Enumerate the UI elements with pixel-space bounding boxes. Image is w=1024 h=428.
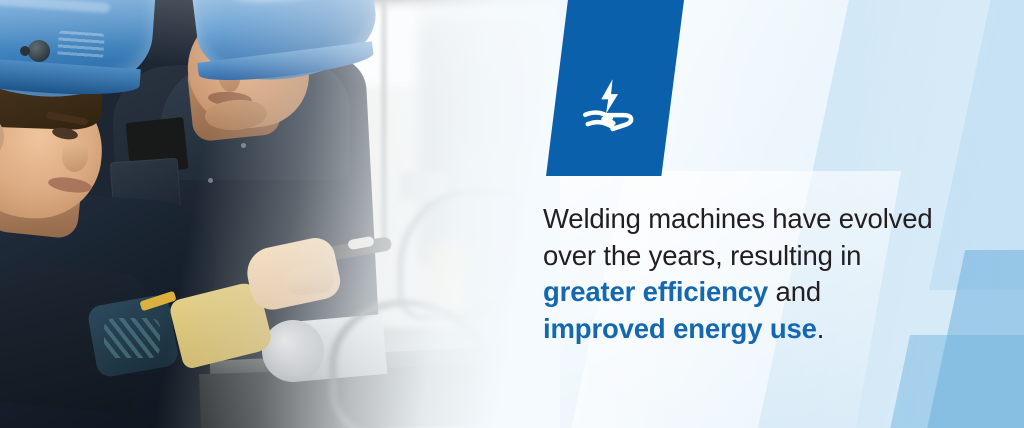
headline-accent-efficiency: greater efficiency [543, 276, 768, 307]
young-welder-helmet-vent [57, 30, 105, 59]
young-welder-helmet-knob-small [20, 46, 30, 56]
headline-accent-energy: improved energy use [543, 313, 817, 344]
headline-line-3: greater efficiency and [543, 274, 963, 311]
young-welder-helmet-knob [28, 40, 50, 62]
photo-canvas [0, 0, 560, 428]
older-welder-button-lower [208, 178, 213, 183]
metal-pipe-end [262, 320, 324, 382]
older-welder-button-upper [241, 143, 246, 148]
headline-line-2: over the years, resulting in [543, 238, 963, 275]
headline: Welding machines have evolved over the y… [543, 201, 963, 347]
hand-holding-lightning-bolt-icon [578, 72, 644, 138]
workshop-rod [382, 0, 386, 250]
headline-line-4: improved energy use. [543, 311, 963, 348]
headline-line-4-rest: . [817, 313, 825, 344]
welding-banner: Welding machines have evolved over the y… [0, 0, 1024, 428]
headline-line-1: Welding machines have evolved [543, 201, 963, 238]
patterned-glove-texture [104, 318, 160, 358]
headline-line-3-rest: and [768, 276, 821, 307]
welders-photo [0, 0, 560, 428]
